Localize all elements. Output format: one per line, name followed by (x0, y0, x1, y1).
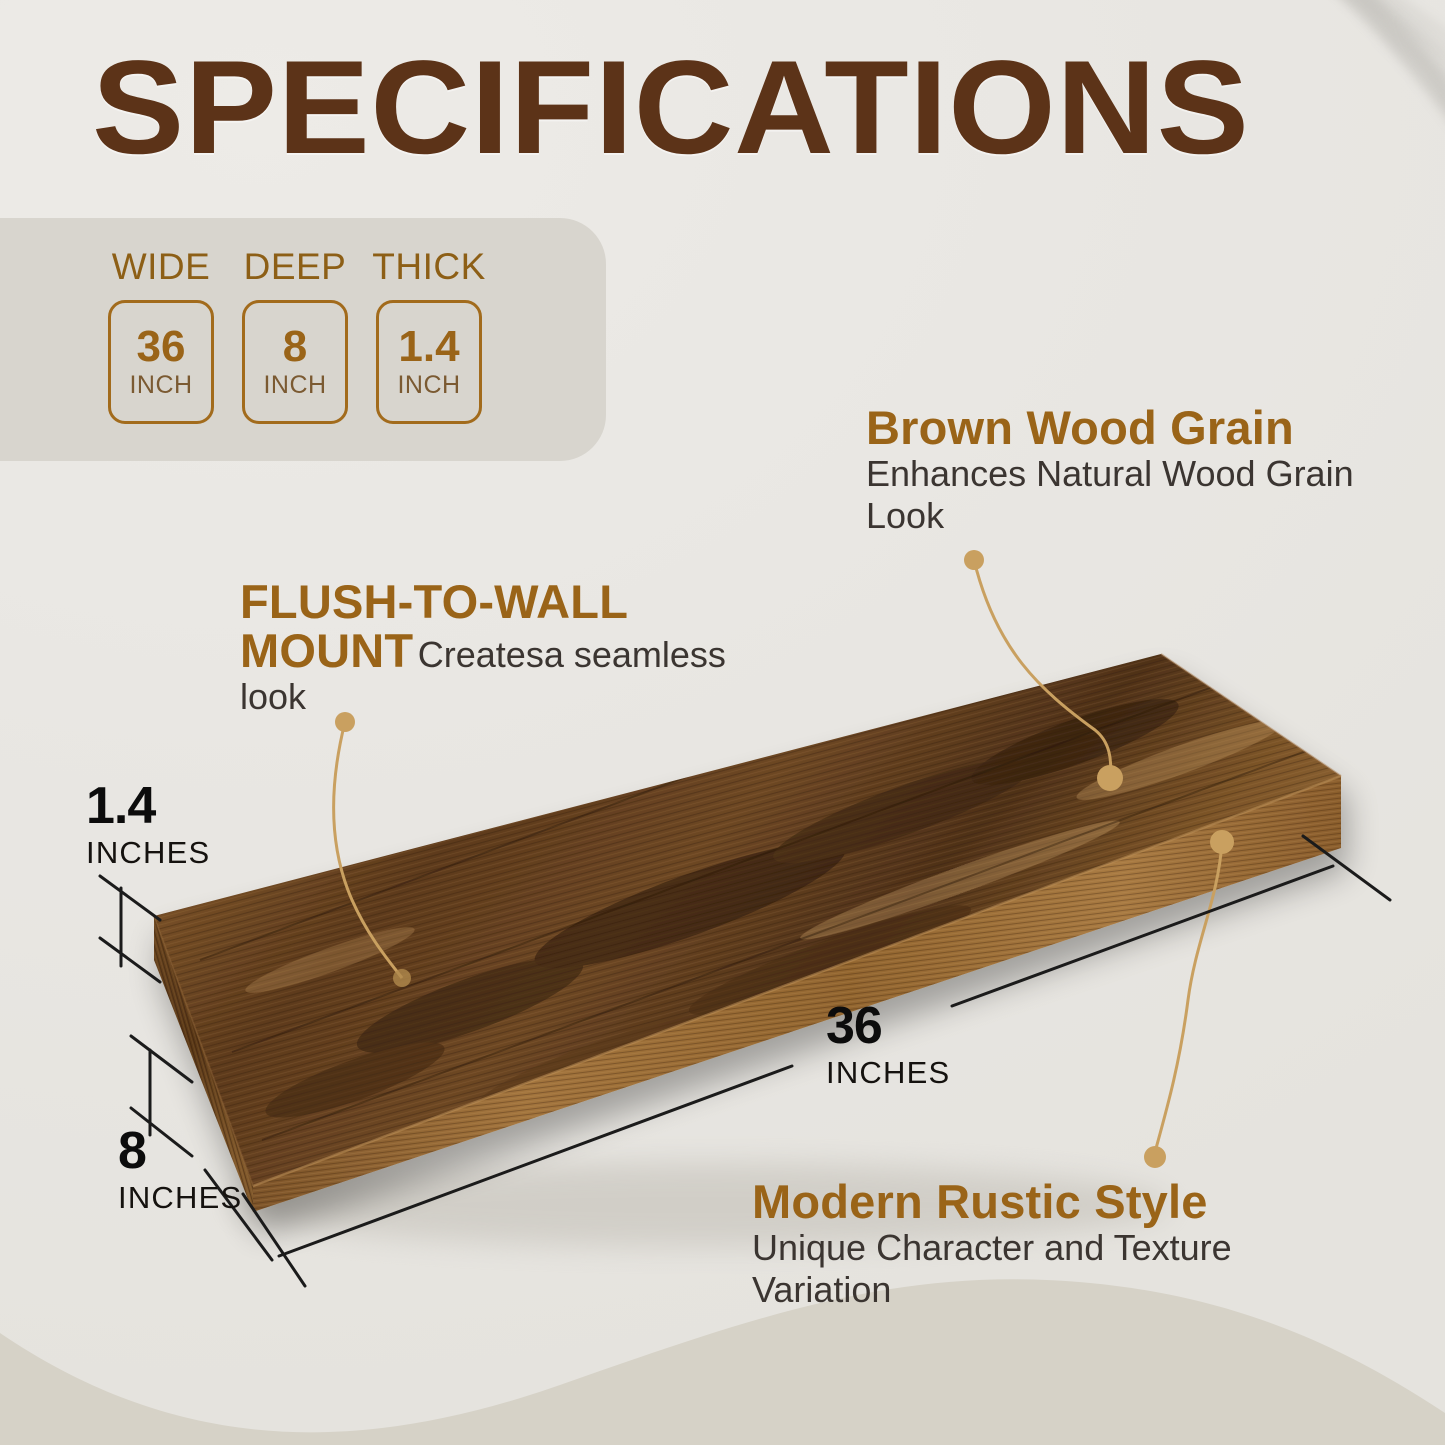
spec-value-deep: 8 (283, 325, 307, 369)
spec-items-row: WIDE 36 INCH DEEP 8 INCH THICK 1.4 INCH (108, 246, 482, 424)
callout-heading-brown-wood-grain: Brown Wood Grain (866, 401, 1294, 454)
callout-flush-to-wall-mount: FLUSH-TO-WALL MOUNT Createsa seamless lo… (240, 578, 780, 718)
page-title: SPECIFICATIONS (92, 42, 1434, 175)
dimension-value-width: 36 (826, 1000, 950, 1052)
callout-subtext-brown-wood-grain: Enhances Natural Wood Grain Look (866, 453, 1354, 536)
spec-unit-wide: INCH (129, 370, 192, 400)
dimension-unit-width: INCHES (826, 1052, 950, 1094)
spec-label-wide: WIDE (112, 246, 211, 288)
callout-subtext-modern-rustic-style: Unique Character and Texture Variation (752, 1227, 1232, 1310)
dimension-unit-thickness: INCHES (86, 832, 210, 874)
spec-unit-thick: INCH (397, 370, 460, 400)
dimension-value-depth: 8 (118, 1125, 242, 1177)
spec-unit-deep: INCH (263, 370, 326, 400)
spec-label-thick: THICK (372, 246, 486, 288)
spec-label-deep: DEEP (244, 246, 347, 288)
spec-value-thick: 1.4 (398, 325, 459, 369)
dimension-label-width: 36 INCHES (826, 1000, 950, 1094)
dimension-value-thickness: 1.4 (86, 780, 210, 832)
callout-brown-wood-grain: Brown Wood Grain Enhances Natural Wood G… (866, 404, 1396, 537)
dimension-unit-depth: INCHES (118, 1177, 242, 1219)
spec-value-wide: 36 (137, 325, 186, 369)
spec-box-deep: 8 INCH (242, 300, 348, 424)
callout-modern-rustic-style: Modern Rustic Style Unique Character and… (752, 1178, 1312, 1311)
spec-item-thick: THICK 1.4 INCH (376, 246, 482, 424)
spec-box-wide: 36 INCH (108, 300, 214, 424)
spec-box-thick: 1.4 INCH (376, 300, 482, 424)
dimension-label-thickness: 1.4 INCHES (86, 780, 210, 874)
spec-item-wide: WIDE 36 INCH (108, 246, 214, 424)
infographic-canvas: SPECIFICATIONS WIDE 36 INCH DEEP 8 INCH … (0, 0, 1445, 1445)
callout-heading-modern-rustic-style: Modern Rustic Style (752, 1175, 1208, 1228)
spec-item-deep: DEEP 8 INCH (242, 246, 348, 424)
specifications-panel: WIDE 36 INCH DEEP 8 INCH THICK 1.4 INCH (0, 218, 606, 461)
dimension-label-depth: 8 INCHES (118, 1125, 242, 1219)
